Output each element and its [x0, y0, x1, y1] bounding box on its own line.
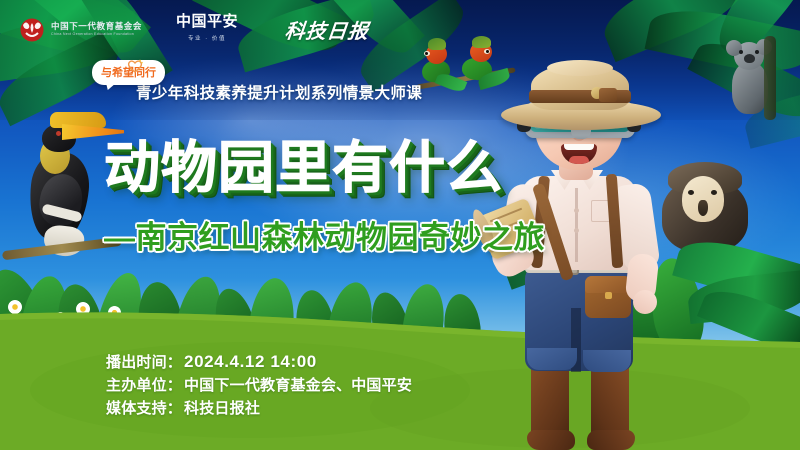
info-row-media-support: 媒体支持： 科技日报社: [106, 397, 412, 420]
pingan-tagline: 专业 · 价值: [176, 34, 238, 42]
broadcast-time-value: 2024.4.12 14:00: [184, 350, 317, 373]
promo-poster: 中国下一代教育基金会 China Next Generation Educati…: [0, 0, 800, 450]
info-row-organizer: 主办单位： 中国下一代教育基金会、中国平安: [106, 374, 412, 397]
foundation-logo[interactable]: 中国下一代教育基金会 China Next Generation Educati…: [18, 16, 142, 42]
info-row-broadcast-time: 播出时间： 2024.4.12 14:00: [106, 350, 412, 374]
foundation-name-cn: 中国下一代教育基金会: [51, 22, 142, 31]
main-title: 动物园里有什么: [104, 123, 503, 204]
sub-title: —南京红山森林动物园奇妙之旅: [104, 212, 545, 257]
keji-ribao-logo[interactable]: 科技日报: [283, 15, 370, 44]
program-subhead: 青少年科技素养提升计划系列情景大师课: [136, 81, 422, 103]
heart-icon: [127, 59, 143, 73]
media-support-value: 科技日报社: [184, 397, 260, 420]
organizer-label: 主办单位：: [106, 374, 182, 397]
broadcast-time-label: 播出时间：: [106, 351, 182, 374]
foundation-name-en: China Next Generation Education Foundati…: [51, 33, 142, 37]
organizer-value: 中国下一代教育基金会、中国平安: [184, 374, 412, 397]
pingan-name: 中国平安: [176, 14, 238, 30]
hope-badge: 与希望同行: [92, 60, 165, 85]
pingan-logo[interactable]: 中国平安 专业 · 价值: [176, 14, 238, 42]
sponsor-logo-bar: 中国下一代教育基金会 China Next Generation Educati…: [0, 0, 800, 56]
foundation-emblem-icon: [18, 16, 46, 42]
broadcast-info-block: 播出时间： 2024.4.12 14:00 主办单位： 中国下一代教育基金会、中…: [106, 350, 412, 420]
media-support-label: 媒体支持：: [106, 397, 182, 420]
